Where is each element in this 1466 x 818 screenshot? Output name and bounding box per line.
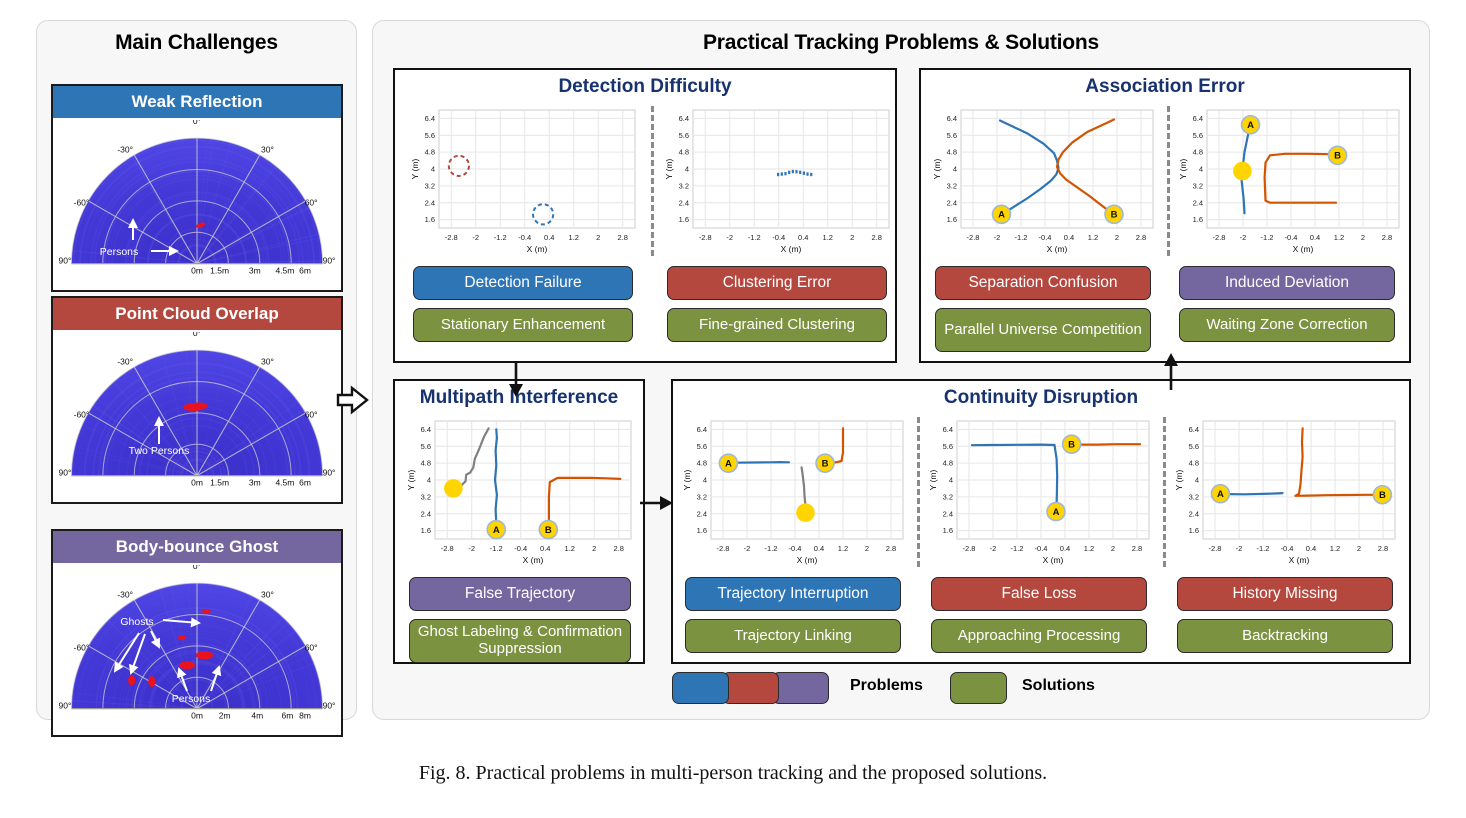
svg-text:-60°: -60°: [74, 410, 90, 420]
svg-text:2: 2: [1115, 233, 1119, 242]
false-trajectory-plot: -2.8-2-1.2-0.40.41.222.81.62.43.244.85.6…: [405, 415, 637, 565]
svg-text:Persons: Persons: [172, 693, 211, 705]
svg-text:1.6: 1.6: [1189, 526, 1199, 535]
figure-caption: Fig. 8. Practical problems in multi-pers…: [0, 762, 1466, 785]
svg-text:90°: 90°: [323, 701, 335, 711]
svg-text:2.8: 2.8: [1136, 233, 1146, 242]
challenge-card-1: Weak Reflection0°30°-30°60°-60°90°-90°0m…: [51, 84, 343, 292]
challenge-title-1: Weak Reflection: [53, 86, 341, 118]
legend-solutions-label: Solutions: [1022, 677, 1095, 695]
svg-text:Y (m): Y (m): [932, 159, 942, 180]
svg-text:1.6: 1.6: [947, 215, 957, 224]
detection-failure-plot: -2.8-2-1.2-0.40.41.222.81.62.43.244.85.6…: [409, 104, 641, 254]
svg-text:5.6: 5.6: [943, 442, 953, 451]
svg-text:0.4: 0.4: [1064, 233, 1074, 242]
pill-false-loss[interactable]: False Loss: [931, 577, 1147, 611]
legend: ProblemsSolutions: [672, 672, 1172, 708]
section-divider: [1167, 106, 1170, 256]
induced-deviation-plot: -2.8-2-1.2-0.40.41.222.81.62.43.244.85.6…: [1177, 104, 1405, 254]
svg-text:-0.4: -0.4: [514, 544, 527, 553]
svg-text:X (m): X (m): [523, 555, 544, 565]
svg-text:-2: -2: [990, 544, 997, 553]
svg-text:B: B: [1111, 210, 1118, 221]
svg-text:A: A: [1053, 507, 1060, 518]
svg-text:3.2: 3.2: [1193, 181, 1203, 190]
svg-text:B: B: [822, 459, 829, 470]
svg-text:Y (m): Y (m): [410, 159, 420, 180]
svg-text:Y (m): Y (m): [1174, 470, 1184, 491]
block-arrow-right: [336, 385, 370, 420]
svg-text:2.4: 2.4: [947, 198, 957, 207]
svg-text:Y (m): Y (m): [1178, 159, 1188, 180]
trajectory-interruption-plot: -2.8-2-1.2-0.40.41.222.81.62.43.244.85.6…: [681, 415, 909, 565]
section-divider: [651, 106, 654, 256]
svg-text:-0.4: -0.4: [1039, 233, 1052, 242]
svg-text:Y (m): Y (m): [928, 470, 938, 491]
svg-text:1.6: 1.6: [425, 215, 435, 224]
section-divider: [917, 417, 920, 567]
polar-plot-1: 0°30°-30°60°-60°90°-90°0m1.5m3m4.5m6mPer…: [59, 120, 335, 290]
svg-text:6m: 6m: [299, 266, 311, 276]
continuity-disruption-panel-title: Continuity Disruption: [673, 387, 1409, 409]
svg-text:4: 4: [685, 165, 689, 174]
svg-text:6.4: 6.4: [697, 425, 707, 434]
svg-text:4m: 4m: [251, 711, 263, 721]
polar-plot-2: 0°30°-30°60°-60°90°-90°0m1.5m3m4.5m6mTwo…: [59, 332, 335, 502]
svg-text:6.4: 6.4: [421, 425, 431, 434]
svg-text:4.8: 4.8: [947, 148, 957, 157]
svg-text:3.2: 3.2: [421, 492, 431, 501]
svg-text:-30°: -30°: [117, 145, 133, 155]
svg-text:6.4: 6.4: [943, 425, 953, 434]
svg-text:4.5m: 4.5m: [275, 266, 294, 276]
svg-text:30°: 30°: [261, 145, 274, 155]
svg-text:3.2: 3.2: [697, 492, 707, 501]
svg-text:1.5m: 1.5m: [210, 266, 229, 276]
svg-text:3.2: 3.2: [943, 492, 953, 501]
svg-text:5.6: 5.6: [1189, 442, 1199, 451]
svg-text:3.2: 3.2: [1189, 492, 1199, 501]
svg-text:-30°: -30°: [117, 357, 133, 367]
svg-text:30°: 30°: [261, 590, 274, 600]
svg-text:-2: -2: [994, 233, 1001, 242]
svg-text:0°: 0°: [193, 565, 201, 571]
svg-text:X (m): X (m): [1293, 244, 1314, 254]
svg-text:1.2: 1.2: [1088, 233, 1098, 242]
svg-text:X (m): X (m): [1043, 555, 1064, 565]
svg-text:0.4: 0.4: [1306, 544, 1316, 553]
section-divider: [1163, 417, 1166, 567]
pill-separation-confusion[interactable]: Separation Confusion: [935, 266, 1151, 300]
challenge-plot-2: 0°30°-30°60°-60°90°-90°0m1.5m3m4.5m6mTwo…: [53, 330, 341, 502]
false-loss-plot: -2.8-2-1.2-0.40.41.222.81.62.43.244.85.6…: [927, 415, 1155, 565]
svg-text:X (m): X (m): [1047, 244, 1068, 254]
svg-text:A: A: [1217, 489, 1224, 500]
svg-text:B: B: [1379, 490, 1386, 501]
svg-text:5.6: 5.6: [947, 131, 957, 140]
svg-text:Two Persons: Two Persons: [129, 445, 190, 457]
svg-text:-2.8: -2.8: [967, 233, 980, 242]
pill-parallel-universe-competition[interactable]: Parallel Universe Competition: [935, 308, 1151, 352]
svg-text:X (m): X (m): [1289, 555, 1310, 565]
svg-text:-30°: -30°: [117, 590, 133, 600]
svg-text:-90°: -90°: [59, 256, 71, 266]
pill-detection-failure[interactable]: Detection Failure: [413, 266, 633, 300]
main-challenges-title: Main Challenges: [37, 31, 356, 55]
challenge-plot-1: 0°30°-30°60°-60°90°-90°0m1.5m3m4.5m6mPer…: [53, 118, 341, 290]
svg-text:1.6: 1.6: [679, 215, 689, 224]
svg-text:5.6: 5.6: [421, 442, 431, 451]
svg-text:1.2: 1.2: [569, 233, 579, 242]
svg-text:90°: 90°: [323, 468, 335, 478]
continuity-disruption-panel: Continuity Disruption-2.8-2-1.2-0.40.41.…: [671, 379, 1411, 664]
pill-trajectory-linking[interactable]: Trajectory Linking: [685, 619, 901, 653]
svg-text:-2: -2: [1240, 233, 1247, 242]
svg-text:4.8: 4.8: [697, 459, 707, 468]
svg-text:-60°: -60°: [74, 643, 90, 653]
svg-text:0°: 0°: [193, 332, 201, 338]
svg-text:4.8: 4.8: [1193, 148, 1203, 157]
svg-text:6.4: 6.4: [679, 114, 689, 123]
svg-text:30°: 30°: [261, 357, 274, 367]
clustering-error-plot: -2.8-2-1.2-0.40.41.222.81.62.43.244.85.6…: [663, 104, 895, 254]
svg-text:X (m): X (m): [781, 244, 802, 254]
svg-text:2.8: 2.8: [872, 233, 882, 242]
svg-text:-0.4: -0.4: [772, 233, 785, 242]
svg-text:-2: -2: [1236, 544, 1243, 553]
svg-text:-90°: -90°: [59, 468, 71, 478]
pill-stationary-enhancement[interactable]: Stationary Enhancement: [413, 308, 633, 342]
legend-problem-swatch-1: [672, 672, 729, 704]
svg-text:2.4: 2.4: [425, 198, 435, 207]
svg-text:0m: 0m: [191, 478, 203, 488]
svg-text:6m: 6m: [281, 711, 293, 721]
svg-text:60°: 60°: [305, 410, 318, 420]
svg-text:0m: 0m: [191, 711, 203, 721]
challenge-title-3: Body-bounce Ghost: [53, 531, 341, 563]
svg-text:2: 2: [1111, 544, 1115, 553]
svg-text:A: A: [725, 459, 732, 470]
svg-text:2.4: 2.4: [1189, 509, 1199, 518]
history-missing-plot: -2.8-2-1.2-0.40.41.222.81.62.43.244.85.6…: [1173, 415, 1401, 565]
svg-text:6.4: 6.4: [1189, 425, 1199, 434]
svg-text:1.6: 1.6: [1193, 215, 1203, 224]
svg-text:1.2: 1.2: [1330, 544, 1340, 553]
svg-text:-2: -2: [744, 544, 751, 553]
svg-text:3.2: 3.2: [947, 181, 957, 190]
svg-text:1.2: 1.2: [1334, 233, 1344, 242]
svg-text:2.4: 2.4: [421, 509, 431, 518]
svg-text:1.2: 1.2: [565, 544, 575, 553]
svg-text:-2.8: -2.8: [445, 233, 458, 242]
association-error-panel: Association Error-2.8-2-1.2-0.40.41.222.…: [919, 68, 1411, 363]
svg-text:4.8: 4.8: [421, 459, 431, 468]
challenge-title-2: Point Cloud Overlap: [53, 298, 341, 330]
svg-text:2.4: 2.4: [679, 198, 689, 207]
svg-text:-2: -2: [468, 544, 475, 553]
svg-text:-1.2: -1.2: [1257, 544, 1270, 553]
arrow-right-multipath-to-continuity: [640, 495, 674, 516]
pill-approaching-processing[interactable]: Approaching Processing: [931, 619, 1147, 653]
svg-text:-0.4: -0.4: [1035, 544, 1048, 553]
svg-text:2.4: 2.4: [697, 509, 707, 518]
svg-text:2: 2: [592, 544, 596, 553]
svg-text:-0.4: -0.4: [518, 233, 531, 242]
svg-text:5.6: 5.6: [425, 131, 435, 140]
svg-text:4.8: 4.8: [425, 148, 435, 157]
svg-text:4.8: 4.8: [679, 148, 689, 157]
pill-false-trajectory[interactable]: False Trajectory: [409, 577, 631, 611]
svg-text:3m: 3m: [249, 266, 261, 276]
svg-text:4: 4: [427, 476, 431, 485]
svg-text:2.8: 2.8: [886, 544, 896, 553]
svg-text:2.8: 2.8: [1378, 544, 1388, 553]
svg-text:3m: 3m: [249, 478, 261, 488]
svg-text:-0.4: -0.4: [789, 544, 802, 553]
svg-text:-2: -2: [472, 233, 479, 242]
svg-text:A: A: [1247, 120, 1254, 131]
svg-text:2m: 2m: [219, 711, 231, 721]
svg-text:A: A: [998, 210, 1005, 221]
svg-text:0.4: 0.4: [798, 233, 808, 242]
practical-tracking-title: Practical Tracking Problems & Solutions: [373, 31, 1429, 55]
svg-text:2.8: 2.8: [618, 233, 628, 242]
svg-text:2: 2: [1361, 233, 1365, 242]
svg-text:A: A: [493, 525, 500, 536]
polar-plot-3: 0°30°-30°60°-60°90°-90°0m2m4m6m8mGhostsP…: [59, 565, 335, 735]
association-error-panel-title: Association Error: [921, 76, 1409, 98]
svg-text:5.6: 5.6: [697, 442, 707, 451]
svg-text:2.4: 2.4: [1193, 198, 1203, 207]
svg-text:0.4: 0.4: [1060, 544, 1070, 553]
pill-induced-deviation[interactable]: Induced Deviation: [1179, 266, 1395, 300]
svg-text:-1.2: -1.2: [490, 544, 503, 553]
svg-text:2: 2: [596, 233, 600, 242]
svg-text:4.8: 4.8: [943, 459, 953, 468]
svg-text:Ghosts: Ghosts: [120, 616, 153, 628]
pill-history-missing[interactable]: History Missing: [1177, 577, 1393, 611]
main-challenges-panel: Main Challenges Weak Reflection0°30°-30°…: [36, 20, 357, 720]
svg-text:6.4: 6.4: [1193, 114, 1203, 123]
svg-text:-60°: -60°: [74, 198, 90, 208]
svg-text:1.2: 1.2: [1084, 544, 1094, 553]
svg-text:1.6: 1.6: [421, 526, 431, 535]
svg-text:1.6: 1.6: [943, 526, 953, 535]
svg-text:-90°: -90°: [59, 701, 71, 711]
pill-trajectory-interruption[interactable]: Trajectory Interruption: [685, 577, 901, 611]
svg-text:-2.8: -2.8: [963, 544, 976, 553]
svg-text:-1.2: -1.2: [494, 233, 507, 242]
svg-text:60°: 60°: [305, 643, 318, 653]
svg-text:-2.8: -2.8: [1213, 233, 1226, 242]
svg-text:Y (m): Y (m): [406, 470, 416, 491]
legend-problem-swatch-3: [772, 672, 829, 704]
legend-solution-swatch: [950, 672, 1007, 704]
arrow-down-detection-to-multipath: [508, 362, 524, 403]
svg-text:-1.2: -1.2: [1015, 233, 1028, 242]
svg-text:Persons: Persons: [100, 246, 139, 258]
svg-text:8m: 8m: [299, 711, 311, 721]
svg-text:6.4: 6.4: [425, 114, 435, 123]
svg-text:4: 4: [431, 165, 435, 174]
svg-text:0°: 0°: [193, 120, 201, 126]
svg-text:-0.4: -0.4: [1285, 233, 1298, 242]
svg-text:-1.2: -1.2: [765, 544, 778, 553]
detection-difficulty-panel: Detection Difficulty-2.8-2-1.2-0.40.41.2…: [393, 68, 897, 363]
svg-text:-2.8: -2.8: [717, 544, 730, 553]
svg-text:90°: 90°: [323, 256, 335, 266]
practical-tracking-panel: Practical Tracking Problems & Solutions …: [372, 20, 1430, 720]
svg-text:Y (m): Y (m): [682, 470, 692, 491]
pill-ghost-labeling-confirmation-suppression[interactable]: Ghost Labeling & Confirmation Suppressio…: [409, 619, 631, 663]
svg-text:2: 2: [850, 233, 854, 242]
svg-text:X (m): X (m): [797, 555, 818, 565]
challenge-plot-3: 0°30°-30°60°-60°90°-90°0m2m4m6m8mGhostsP…: [53, 563, 341, 735]
svg-text:6m: 6m: [299, 478, 311, 488]
svg-text:5.6: 5.6: [679, 131, 689, 140]
legend-problems-label: Problems: [850, 677, 923, 695]
svg-text:1.6: 1.6: [697, 526, 707, 535]
svg-text:-0.4: -0.4: [1281, 544, 1294, 553]
svg-text:4: 4: [703, 476, 707, 485]
pill-clustering-error[interactable]: Clustering Error: [667, 266, 887, 300]
svg-text:60°: 60°: [305, 198, 318, 208]
svg-text:B: B: [1068, 440, 1075, 451]
pill-fine-grained-clustering[interactable]: Fine-grained Clustering: [667, 308, 887, 342]
svg-text:-1.2: -1.2: [1011, 544, 1024, 553]
svg-text:3.2: 3.2: [679, 181, 689, 190]
svg-text:2: 2: [1357, 544, 1361, 553]
svg-text:4: 4: [949, 476, 953, 485]
svg-text:1.5m: 1.5m: [210, 478, 229, 488]
svg-text:4: 4: [1199, 165, 1203, 174]
svg-text:1.2: 1.2: [823, 233, 833, 242]
svg-text:4: 4: [1195, 476, 1199, 485]
svg-text:-2.8: -2.8: [699, 233, 712, 242]
svg-text:-2: -2: [726, 233, 733, 242]
svg-text:0.4: 0.4: [1310, 233, 1320, 242]
svg-text:5.6: 5.6: [1193, 131, 1203, 140]
svg-text:X (m): X (m): [527, 244, 548, 254]
svg-text:-2.8: -2.8: [1209, 544, 1222, 553]
svg-text:-1.2: -1.2: [1261, 233, 1274, 242]
challenge-card-3: Body-bounce Ghost0°30°-30°60°-60°90°-90°…: [51, 529, 343, 737]
svg-text:0.4: 0.4: [544, 233, 554, 242]
svg-text:-2.8: -2.8: [441, 544, 454, 553]
svg-text:2.4: 2.4: [943, 509, 953, 518]
detection-difficulty-panel-title: Detection Difficulty: [395, 76, 895, 98]
svg-text:4: 4: [953, 165, 957, 174]
legend-problem-swatch-2: [722, 672, 779, 704]
svg-text:3.2: 3.2: [425, 181, 435, 190]
svg-text:-1.2: -1.2: [748, 233, 761, 242]
challenge-card-2: Point Cloud Overlap0°30°-30°60°-60°90°-9…: [51, 296, 343, 504]
svg-text:4.5m: 4.5m: [275, 478, 294, 488]
svg-text:2.8: 2.8: [1382, 233, 1392, 242]
svg-text:0.4: 0.4: [540, 544, 550, 553]
svg-text:4.8: 4.8: [1189, 459, 1199, 468]
svg-text:2.8: 2.8: [1132, 544, 1142, 553]
svg-text:0.4: 0.4: [814, 544, 824, 553]
svg-text:2: 2: [865, 544, 869, 553]
svg-text:B: B: [1334, 151, 1341, 162]
svg-text:Y (m): Y (m): [664, 159, 674, 180]
multipath-interference-panel: Multipath Interference-2.8-2-1.2-0.40.41…: [393, 379, 645, 664]
svg-text:2.8: 2.8: [614, 544, 624, 553]
svg-text:B: B: [545, 525, 552, 536]
arrow-up-continuity-to-association: [1163, 352, 1179, 397]
svg-text:6.4: 6.4: [947, 114, 957, 123]
svg-text:0m: 0m: [191, 266, 203, 276]
pill-waiting-zone-correction[interactable]: Waiting Zone Correction: [1179, 308, 1395, 342]
pill-backtracking[interactable]: Backtracking: [1177, 619, 1393, 653]
svg-text:1.2: 1.2: [838, 544, 848, 553]
separation-confusion-plot: -2.8-2-1.2-0.40.41.222.81.62.43.244.85.6…: [931, 104, 1159, 254]
